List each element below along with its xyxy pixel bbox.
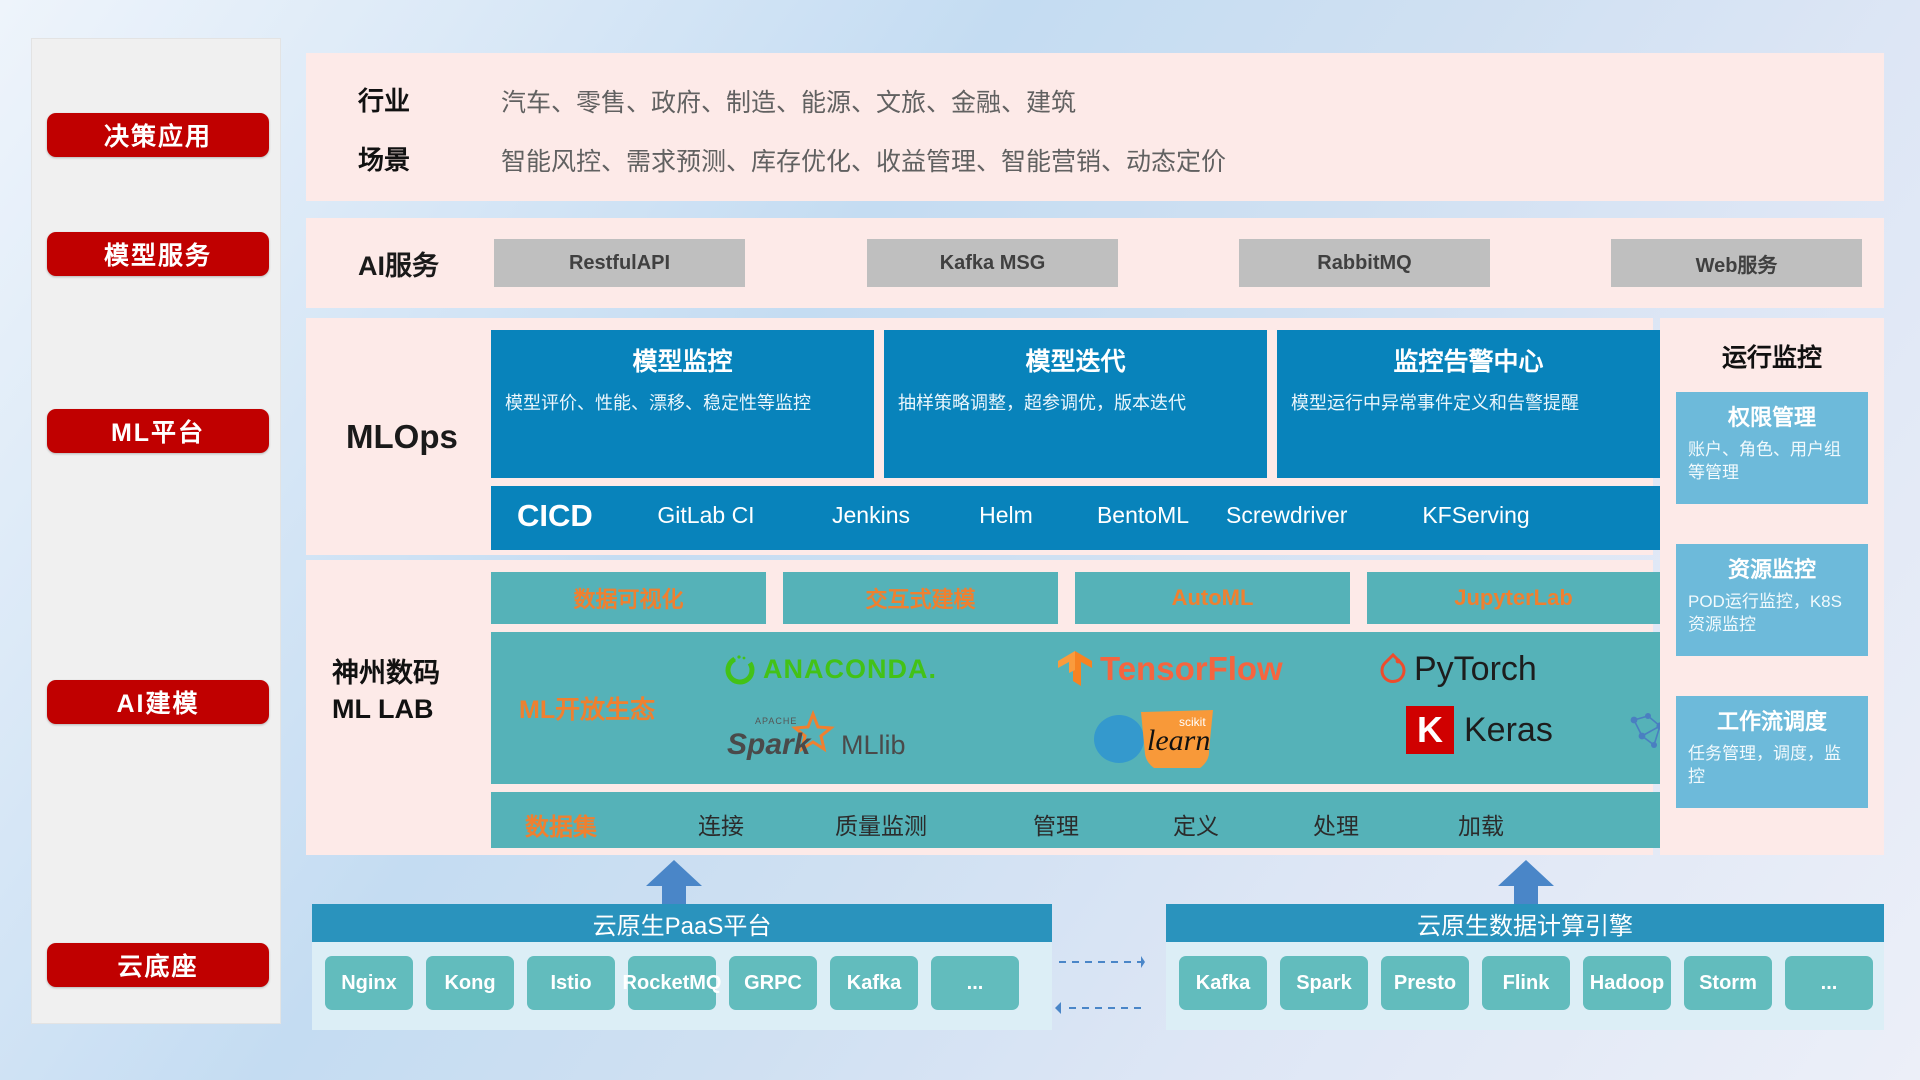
- card-desc: 账户、角色、用户组等管理: [1688, 439, 1856, 485]
- cicd-tool-screwdriver[interactable]: Screwdriver: [1226, 502, 1346, 528]
- service-chip-web-service[interactable]: Web服务: [1611, 239, 1862, 287]
- platform-paas-title: 云原生PaaS平台: [312, 904, 1052, 942]
- logo-keras: K Keras: [1406, 706, 1553, 754]
- lab-tab-data-visualization[interactable]: 数据可视化: [491, 572, 766, 624]
- pytorch-icon: [1376, 651, 1410, 689]
- industry-label: 行业: [358, 81, 410, 118]
- stage-button-model-service[interactable]: 模型服务: [47, 232, 269, 276]
- ml-ecosystem-box: ML开放生态 ANACONDA. TensorF: [491, 632, 1660, 784]
- card-title: 模型监控: [505, 342, 860, 378]
- mlops-band: MLOps 模型监控 模型评价、性能、漂移、稳定性等监控 模型迭代 抽样策略调整…: [306, 318, 1653, 555]
- runtime-monitoring-title: 运行监控: [1660, 338, 1884, 374]
- scenario-values: 智能风控、需求预测、库存优化、收益管理、智能营销、动态定价: [501, 142, 1226, 178]
- card-title: 权限管理: [1688, 400, 1856, 432]
- mlops-label: MLOps: [346, 318, 458, 555]
- runtime-monitoring-band: 运行监控 权限管理 账户、角色、用户组等管理 资源监控 POD运行监控，K8S资…: [1660, 318, 1884, 855]
- monitor-card-permission[interactable]: 权限管理 账户、角色、用户组等管理: [1676, 392, 1868, 504]
- logo-pytorch: PyTorch: [1376, 650, 1537, 689]
- monitor-card-resource[interactable]: 资源监控 POD运行监控，K8S资源监控: [1676, 544, 1868, 656]
- spark-icon: APACHE Spark: [727, 710, 835, 766]
- service-chip-kafka-msg[interactable]: Kafka MSG: [867, 239, 1118, 287]
- card-desc: 模型评价、性能、漂移、稳定性等监控: [505, 390, 860, 416]
- keras-wordmark: Keras: [1464, 711, 1553, 750]
- dataset-item-load[interactable]: 加载: [1421, 807, 1541, 841]
- paas-chip-rocketmq[interactable]: RocketMQ: [628, 956, 716, 1010]
- cicd-tool-jenkins[interactable]: Jenkins: [811, 502, 931, 528]
- paas-chip-grpc[interactable]: GRPC: [729, 956, 817, 1010]
- platform-paas: 云原生PaaS平台 Nginx Kong Istio RocketMQ GRPC…: [312, 904, 1052, 1030]
- stage-button-ml-platform[interactable]: ML平台: [47, 409, 269, 453]
- engine-chip-flink[interactable]: Flink: [1482, 956, 1570, 1010]
- platform-data-engine-title: 云原生数据计算引擎: [1166, 904, 1884, 942]
- dataset-item-define[interactable]: 定义: [1136, 807, 1256, 841]
- architecture-diagram: 决策应用 模型服务 ML平台 AI建模 云底座 行业 汽车、零售、政府、制造、能…: [0, 0, 1920, 1080]
- monitor-card-workflow[interactable]: 工作流调度 任务管理，调度，监控: [1676, 696, 1868, 808]
- cicd-title: CICD: [517, 498, 593, 534]
- card-title: 工作流调度: [1688, 704, 1856, 736]
- anaconda-wordmark: ANACONDA.: [763, 654, 937, 685]
- logo-scikit-learn: scikit learn: [1091, 706, 1223, 768]
- card-title: 资源监控: [1688, 552, 1856, 584]
- service-chip-restfulapi[interactable]: RestfulAPI: [494, 239, 745, 287]
- mlops-card-model-monitoring[interactable]: 模型监控 模型评价、性能、漂移、稳定性等监控: [491, 330, 874, 478]
- engine-chip-presto[interactable]: Presto: [1381, 956, 1469, 1010]
- card-desc: 模型运行中异常事件定义和告警提醒: [1291, 390, 1646, 416]
- paas-chip-nginx[interactable]: Nginx: [325, 956, 413, 1010]
- logo-spark-mllib: APACHE Spark MLlib: [727, 710, 906, 766]
- dataset-item-quality[interactable]: 质量监测: [821, 807, 941, 841]
- ml-lab-label-line1: 神州数码: [332, 655, 440, 691]
- cicd-tool-helm[interactable]: Helm: [946, 502, 1066, 528]
- card-title: 模型迭代: [898, 342, 1253, 378]
- card-title: 监控告警中心: [1291, 342, 1646, 378]
- dataset-item-manage[interactable]: 管理: [996, 807, 1116, 841]
- mlops-card-alert-center[interactable]: 监控告警中心 模型运行中异常事件定义和告警提醒: [1277, 330, 1660, 478]
- dataset-item-connect[interactable]: 连接: [661, 807, 781, 841]
- engine-chip-storm[interactable]: Storm: [1684, 956, 1772, 1010]
- logo-anaconda: ANACONDA.: [723, 652, 937, 686]
- industry-values: 汽车、零售、政府、制造、能源、文旅、金融、建筑: [501, 83, 1076, 119]
- ml-lab-label-line2: ML LAB: [332, 691, 440, 727]
- decision-application-band: 行业 汽车、零售、政府、制造、能源、文旅、金融、建筑 场景 智能风控、需求预测、…: [306, 53, 1884, 201]
- lab-tab-automl[interactable]: AutoML: [1075, 572, 1350, 624]
- svg-text:learn: learn: [1147, 724, 1210, 757]
- engine-chip-kafka[interactable]: Kafka: [1179, 956, 1267, 1010]
- keras-badge: K: [1406, 706, 1454, 754]
- card-desc: POD运行监控，K8S资源监控: [1688, 591, 1856, 637]
- svg-text:APACHE: APACHE: [755, 716, 797, 726]
- arrow-up-data-engine: [1498, 860, 1554, 908]
- paas-chip-kafka[interactable]: Kafka: [830, 956, 918, 1010]
- ai-service-label: AI服务: [358, 218, 439, 308]
- stage-rail: [31, 38, 281, 1024]
- logo-tensorflow: TensorFlow: [1054, 648, 1283, 690]
- pytorch-wordmark: PyTorch: [1414, 650, 1537, 689]
- lab-tab-jupyterlab[interactable]: JupyterLab: [1367, 572, 1660, 624]
- ai-modeling-band: 神州数码 ML LAB 数据可视化 交互式建模 AutoML JupyterLa…: [306, 560, 1653, 855]
- ml-lab-label: 神州数码 ML LAB: [332, 655, 440, 728]
- platform-data-engine: 云原生数据计算引擎 Kafka Spark Presto Flink Hadoo…: [1166, 904, 1884, 1030]
- scikit-learn-icon: scikit learn: [1091, 706, 1223, 768]
- scenario-label: 场景: [358, 140, 410, 177]
- lab-tab-interactive-modeling[interactable]: 交互式建模: [783, 572, 1058, 624]
- dataset-label: 数据集: [525, 807, 597, 842]
- dataset-bar: 数据集 连接 质量监测 管理 定义 处理 加载: [491, 792, 1660, 848]
- platform-link-arrows: [1055, 952, 1145, 1022]
- arrow-up-paas: [646, 860, 702, 908]
- paas-chip-more[interactable]: ...: [931, 956, 1019, 1010]
- cicd-tool-kfserving[interactable]: KFServing: [1416, 502, 1536, 528]
- stage-button-decision[interactable]: 决策应用: [47, 113, 269, 157]
- stage-button-ai-modeling[interactable]: AI建模: [47, 680, 269, 724]
- dataset-item-process[interactable]: 处理: [1276, 807, 1396, 841]
- card-desc: 任务管理，调度，监控: [1688, 743, 1856, 789]
- paas-chip-istio[interactable]: Istio: [527, 956, 615, 1010]
- stage-button-cloud-base[interactable]: 云底座: [47, 943, 269, 987]
- anaconda-icon: [723, 652, 757, 686]
- engine-chip-spark[interactable]: Spark: [1280, 956, 1368, 1010]
- cicd-tool-bentoml[interactable]: BentoML: [1083, 502, 1203, 528]
- tensorflow-wordmark: TensorFlow: [1100, 650, 1283, 688]
- ml-ecosystem-label: ML开放生态: [519, 690, 655, 726]
- tensorflow-icon: [1054, 648, 1096, 690]
- cicd-tool-gitlab-ci[interactable]: GitLab CI: [646, 502, 766, 528]
- service-chip-rabbitmq[interactable]: RabbitMQ: [1239, 239, 1490, 287]
- mllib-wordmark: MLlib: [841, 730, 906, 761]
- mlops-card-model-iteration[interactable]: 模型迭代 抽样策略调整，超参调优，版本迭代: [884, 330, 1267, 478]
- svg-text:Spark: Spark: [727, 728, 812, 761]
- ai-service-band: AI服务 RestfulAPI Kafka MSG RabbitMQ Web服务: [306, 218, 1884, 308]
- paas-chip-kong[interactable]: Kong: [426, 956, 514, 1010]
- cicd-bar: CICD GitLab CI Jenkins Helm BentoML Scre…: [491, 486, 1660, 550]
- engine-chip-hadoop[interactable]: Hadoop: [1583, 956, 1671, 1010]
- engine-chip-more[interactable]: ...: [1785, 956, 1873, 1010]
- card-desc: 抽样策略调整，超参调优，版本迭代: [898, 390, 1253, 416]
